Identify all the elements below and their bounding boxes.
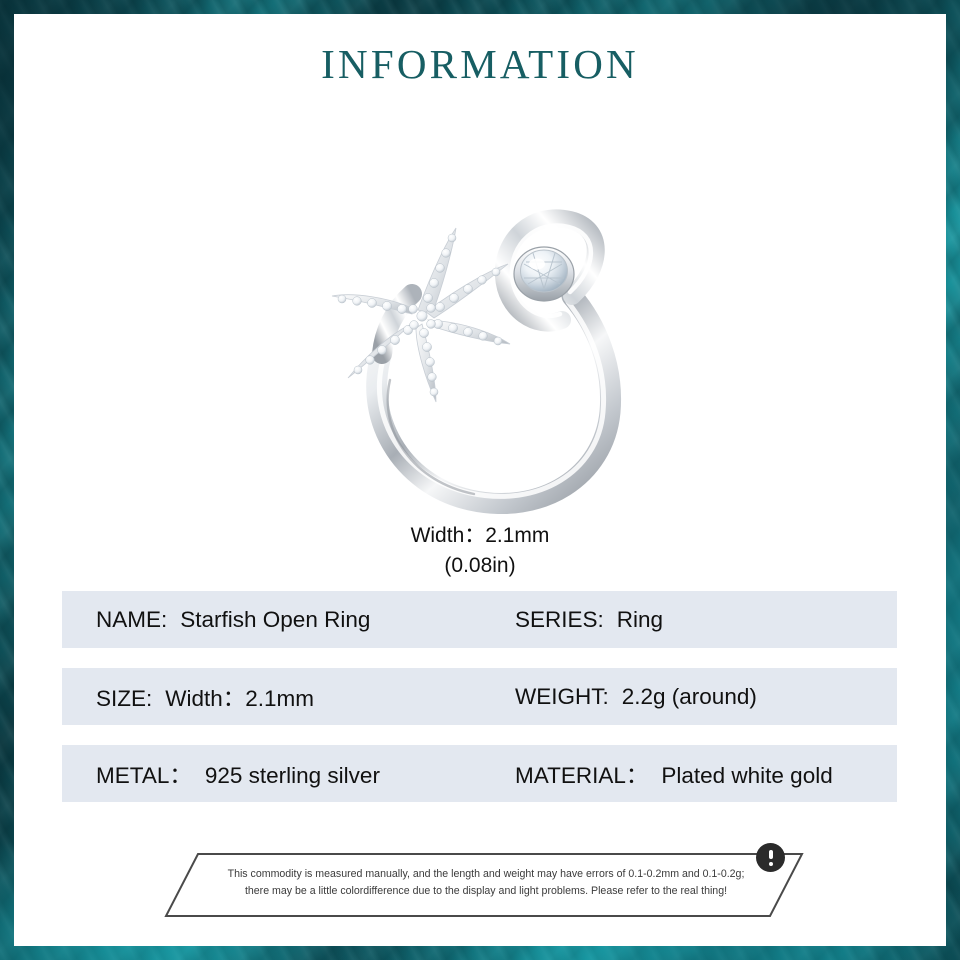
content-panel: INFORMATION — [14, 14, 946, 946]
spec-cell-metal: METAL： 925 sterling silver — [96, 758, 380, 790]
exclamation-circle-icon — [756, 843, 785, 872]
product-image-starfish-open-ring — [304, 184, 664, 514]
dimension-width-inches: (0.08in) — [14, 551, 946, 581]
spec-table: NAME: Starfish Open Ring SERIES: Ring SI… — [62, 591, 897, 822]
spec-cell-series: SERIES: Ring — [515, 607, 663, 633]
spec-cell-name: NAME: Starfish Open Ring — [96, 607, 370, 633]
disclaimer-text: This commodity is measured manually, and… — [216, 866, 756, 900]
spec-cell-material: MATERIAL： Plated white gold — [515, 758, 833, 790]
spec-label: WEIGHT: — [515, 684, 609, 710]
exclamation-glyph — [769, 849, 773, 867]
dimension-caption: Width：2.1mm (0.08in) — [14, 521, 946, 581]
spec-label: SERIES: — [515, 607, 604, 633]
product-information-card: INFORMATION — [0, 0, 960, 960]
title-block: INFORMATION — [14, 40, 946, 88]
page-title: INFORMATION — [14, 40, 946, 88]
spec-cell-size: SIZE: Width：2.1mm — [96, 681, 314, 713]
dimension-width: Width：2.1mm — [14, 521, 946, 551]
disclaimer-line-1: This commodity is measured manually, and… — [228, 868, 745, 880]
spec-label: SIZE: — [96, 686, 152, 712]
disclaimer-note: This commodity is measured manually, and… — [164, 852, 804, 918]
spec-value: 925 sterling silver — [205, 763, 380, 789]
table-row: NAME: Starfish Open Ring SERIES: Ring — [62, 591, 897, 648]
spec-value: Starfish Open Ring — [180, 607, 370, 633]
table-row: SIZE: Width：2.1mm WEIGHT: 2.2g (around) — [62, 668, 897, 725]
spec-label: NAME: — [96, 607, 167, 633]
spec-value: Plated white gold — [661, 763, 832, 789]
spec-label: METAL： — [96, 758, 192, 790]
spec-value: Ring — [617, 607, 663, 633]
spec-value: 2.2g (around) — [622, 684, 757, 710]
starfish-motif — [332, 228, 510, 402]
solitaire-stone — [514, 247, 574, 301]
spec-value: Width：2.1mm — [165, 681, 314, 713]
table-row: METAL： 925 sterling silver MATERIAL： Pla… — [62, 745, 897, 802]
spec-label: MATERIAL： — [515, 758, 648, 790]
spec-cell-weight: WEIGHT: 2.2g (around) — [515, 684, 757, 710]
disclaimer-line-2: there may be a little colordifference du… — [245, 885, 727, 897]
